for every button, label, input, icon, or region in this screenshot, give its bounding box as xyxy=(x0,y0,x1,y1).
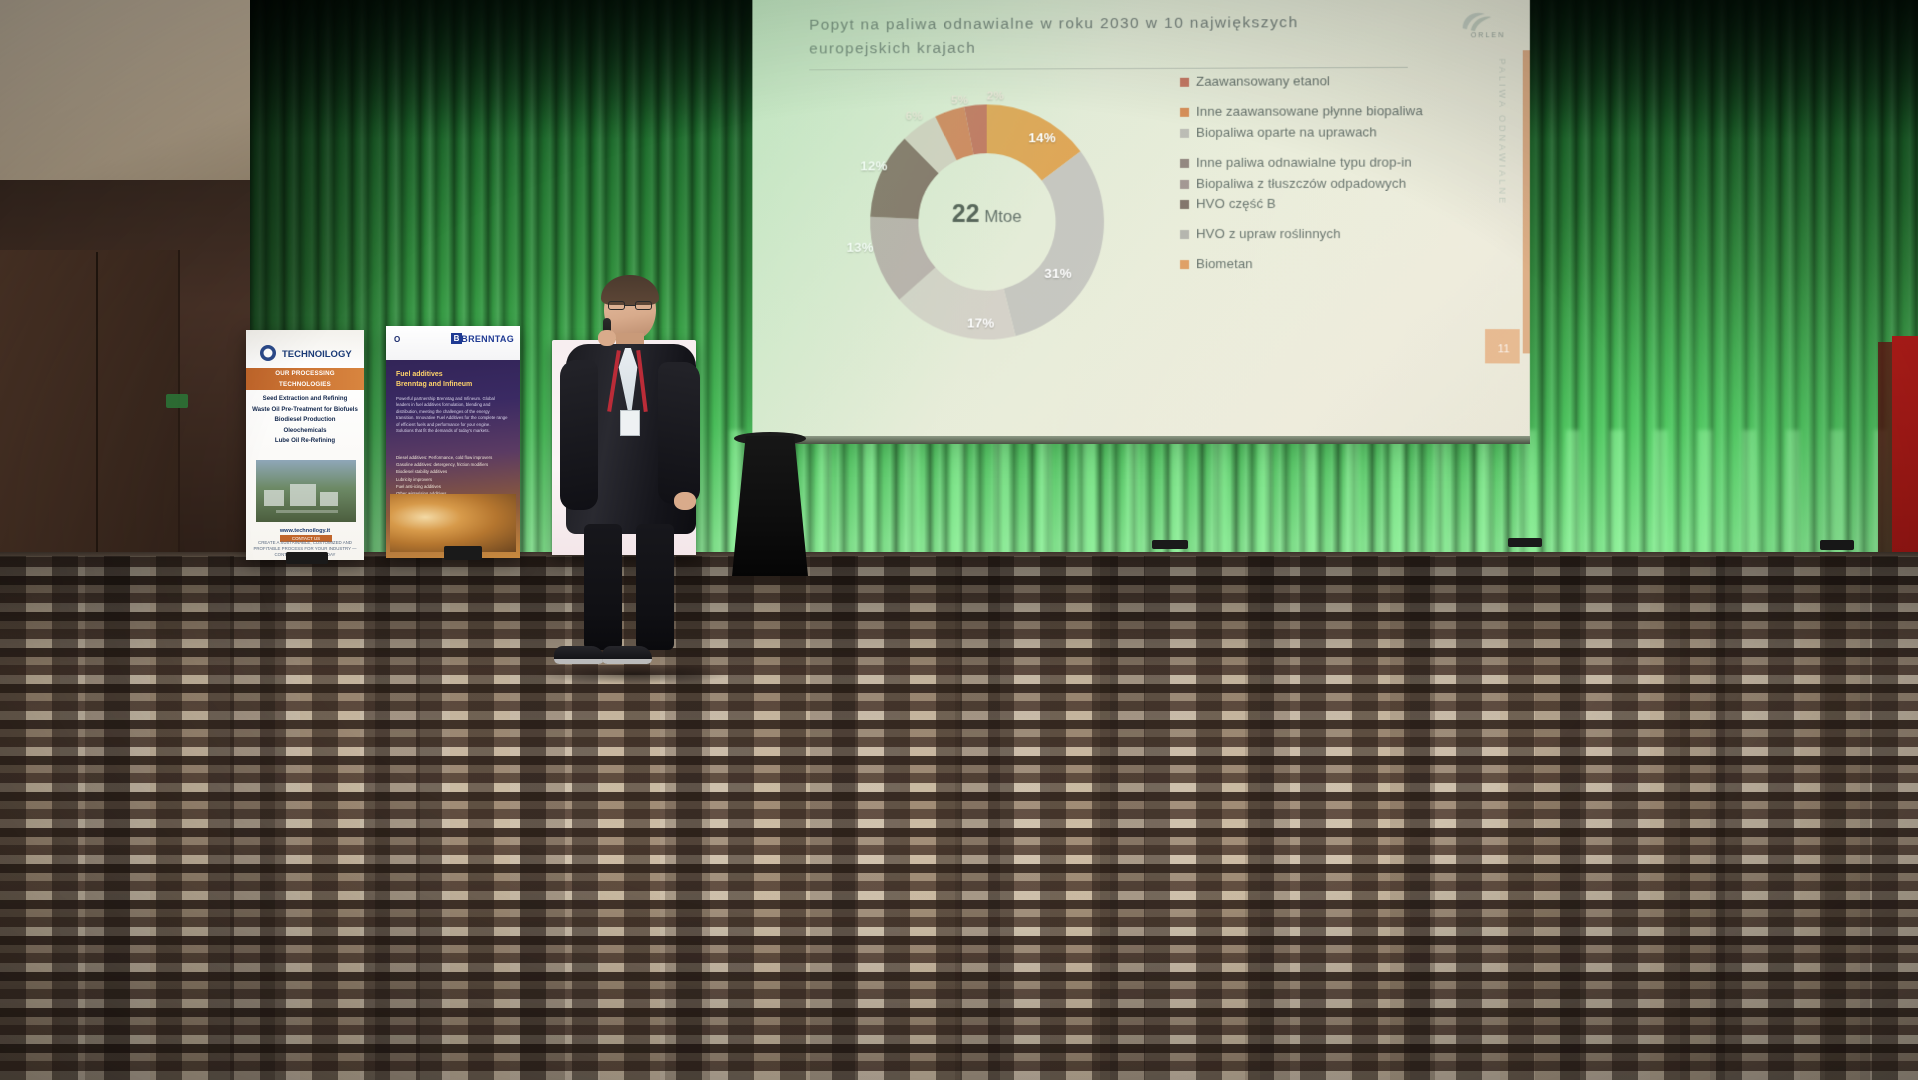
technoilogy-services: Seed Extraction and Refining Waste Oil P… xyxy=(246,394,364,447)
exit-sign-icon xyxy=(166,394,188,408)
service-item: Biodiesel Production xyxy=(246,415,364,426)
legend-swatch-icon xyxy=(1180,180,1189,189)
speaker-shoe-left xyxy=(554,646,604,664)
technoilogy-logo-icon: TECHNOILOGY xyxy=(256,344,356,362)
legend-item-drop-in: Inne paliwa odnawialne typu drop-in xyxy=(1180,154,1483,171)
slice-label-crop-biofuels: 6% xyxy=(906,111,923,123)
technoilogy-band: OUR PROCESSING TECHNOLOGIES xyxy=(246,368,364,390)
brenntag-paragraph: Powerful partnership Brenntag and Infine… xyxy=(396,396,508,434)
slice-label-hvo-part-b: 17% xyxy=(967,316,995,331)
conference-badge xyxy=(620,410,640,436)
bullet-item: Fuel anti-icing additives xyxy=(396,483,508,490)
legend-swatch-icon xyxy=(1180,260,1189,269)
legend-spacer xyxy=(1180,247,1483,256)
slice-label-drop-in: 12% xyxy=(860,158,888,173)
slide-accent-bar xyxy=(1523,50,1530,353)
brenntag-partner-mark: O xyxy=(394,335,400,344)
legend-swatch-icon xyxy=(1180,200,1189,209)
orlen-logo-icon xyxy=(1457,8,1504,34)
brenntag-heading: Fuel additives Brenntag and Infineum xyxy=(396,370,472,390)
technoilogy-url: www.technoilogy.it xyxy=(246,528,364,534)
bullet-item: Biodiesel stability additives xyxy=(396,468,508,475)
floor-shading xyxy=(0,556,1918,1080)
slice-label-advanced-ethanol: 2% xyxy=(987,90,1004,102)
speaker-arm-left xyxy=(560,360,598,510)
floor-monitor xyxy=(1152,540,1188,549)
slice-label-waste-fats: 13% xyxy=(847,240,874,255)
legend-item-waste-fats: Biopaliwa z tłuszczów odpadowych xyxy=(1180,175,1483,192)
legend-item-hvo-crops: HVO z upraw roślinnych xyxy=(1180,226,1483,243)
legend-swatch-icon xyxy=(1180,78,1189,87)
floor-monitor xyxy=(444,546,482,560)
technoilogy-band-line2: TECHNOLOGIES xyxy=(246,379,364,390)
brenntag-image xyxy=(390,494,516,552)
legend-item-advanced-ethanol: Zaawansowany etanol xyxy=(1180,73,1483,91)
service-item: Lube Oil Re-Refining xyxy=(246,436,364,447)
legend-label: Zaawansowany etanol xyxy=(1196,73,1330,90)
slice-label-hvo-crops: 31% xyxy=(1044,266,1072,281)
speaker-hand-right xyxy=(674,492,696,510)
slide-page-number: 11 xyxy=(1498,343,1510,355)
stage-uplights xyxy=(730,430,1918,560)
legend-item-hvo-part-b: HVO część B xyxy=(1180,196,1483,213)
speaker-leg-right xyxy=(636,524,674,650)
technoilogy-band-line1: OUR PROCESSING xyxy=(246,368,364,379)
speaker-leg-left xyxy=(584,524,622,650)
floor-monitor xyxy=(286,552,328,564)
legend-label: Inne paliwa odnawialne typu drop-in xyxy=(1196,154,1412,171)
orlen-wordmark: ORLEN xyxy=(1471,32,1506,39)
legend-label: HVO część B xyxy=(1196,196,1276,213)
legend-swatch-icon xyxy=(1180,159,1189,168)
legend-spacer xyxy=(1180,145,1483,155)
red-banner-edge xyxy=(1892,336,1918,558)
slice-hvo-crops xyxy=(1004,151,1104,336)
projection-screen: Popyt na paliwa odnawialne w roku 2030 w… xyxy=(752,0,1530,442)
bullet-item: Diesel additives: Performance, cold flow… xyxy=(396,454,508,461)
speaker xyxy=(546,278,712,678)
donut-chart: 14% 31% 17% 13% 12% 6% 5% 2% 22 Mtoe xyxy=(829,82,1146,362)
chart-legend: Zaawansowany etanol Inne zaawansowane pł… xyxy=(1180,73,1483,278)
brenntag-heading-line1: Fuel additives xyxy=(396,370,472,380)
speaker-arm-right xyxy=(658,362,700,504)
hall-floor xyxy=(0,556,1918,1080)
legend-item-biometan: Biometan xyxy=(1180,256,1483,273)
slice-label-other-advanced: 5% xyxy=(951,95,968,107)
legend-label: Biopaliwa z tłuszczów odpadowych xyxy=(1196,175,1406,192)
service-item: Waste Oil Pre-Treatment for Biofuels xyxy=(246,405,364,416)
legend-label: Biometan xyxy=(1196,256,1253,273)
legend-swatch-icon xyxy=(1180,129,1189,138)
legend-label: Inne zaawansowane płynne biopaliwa xyxy=(1196,103,1423,121)
brenntag-heading-line2: Brenntag and Infineum xyxy=(396,380,472,390)
legend-label: Biopaliwa oparte na uprawach xyxy=(1196,124,1377,141)
legend-swatch-icon xyxy=(1180,230,1189,239)
donut-center-label: 22 Mtoe xyxy=(829,200,1146,229)
speaker-shoe-right xyxy=(602,646,652,664)
bullet-item: Gasoline additives: detergency, friction… xyxy=(396,461,508,468)
legend-item-crop-biofuels: Biopaliwa oparte na uprawach xyxy=(1180,124,1483,142)
donut-center-value: 22 xyxy=(952,200,980,228)
speaker-legs xyxy=(582,524,678,650)
brenntag-wordmark: BRENNTAG xyxy=(461,334,514,344)
floor-monitor xyxy=(1820,540,1854,550)
red-banner-edge-shadow xyxy=(1878,342,1892,552)
speaker-hand-left xyxy=(598,330,616,346)
technoilogy-photo xyxy=(256,460,356,522)
brenntag-header: O B BRENNTAG xyxy=(386,326,520,360)
brenntag-bullets: Diesel additives: Performance, cold flow… xyxy=(396,454,508,497)
slice-label-biometan: 14% xyxy=(1028,130,1056,145)
screen-bottom-frame xyxy=(752,436,1530,444)
banner-technoilogy: TECHNOILOGY OUR PROCESSING TECHNOLOGIES … xyxy=(246,330,364,560)
bullet-item: Lubricity improvers xyxy=(396,476,508,483)
svg-text:TECHNOILOGY: TECHNOILOGY xyxy=(282,349,352,360)
eyeglasses-icon xyxy=(608,301,652,310)
service-item: Seed Extraction and Refining xyxy=(246,394,364,405)
legend-item-other-advanced-liquid: Inne zaawansowane płynne biopaliwa xyxy=(1180,103,1483,121)
legend-swatch-icon xyxy=(1180,108,1189,117)
slide-title: Popyt na paliwa odnawialne w roku 2030 w… xyxy=(809,10,1408,61)
stage-door xyxy=(0,250,180,560)
slide-side-label: PALIWA ODNAWIALNE xyxy=(1497,58,1507,206)
legend-label: HVO z upraw roślinnych xyxy=(1196,226,1341,243)
conference-hall-scene: Popyt na paliwa odnawialne w roku 2030 w… xyxy=(0,0,1918,1080)
donut-center-unit: Mtoe xyxy=(984,207,1021,226)
slide-title-divider xyxy=(809,67,1408,70)
floor-monitor xyxy=(1508,538,1542,547)
legend-spacer xyxy=(1180,217,1483,226)
door-seam xyxy=(96,252,98,552)
banner-brenntag: O B BRENNTAG Fuel additives Brenntag and… xyxy=(386,326,520,558)
service-item: Oleochemicals xyxy=(246,426,364,437)
